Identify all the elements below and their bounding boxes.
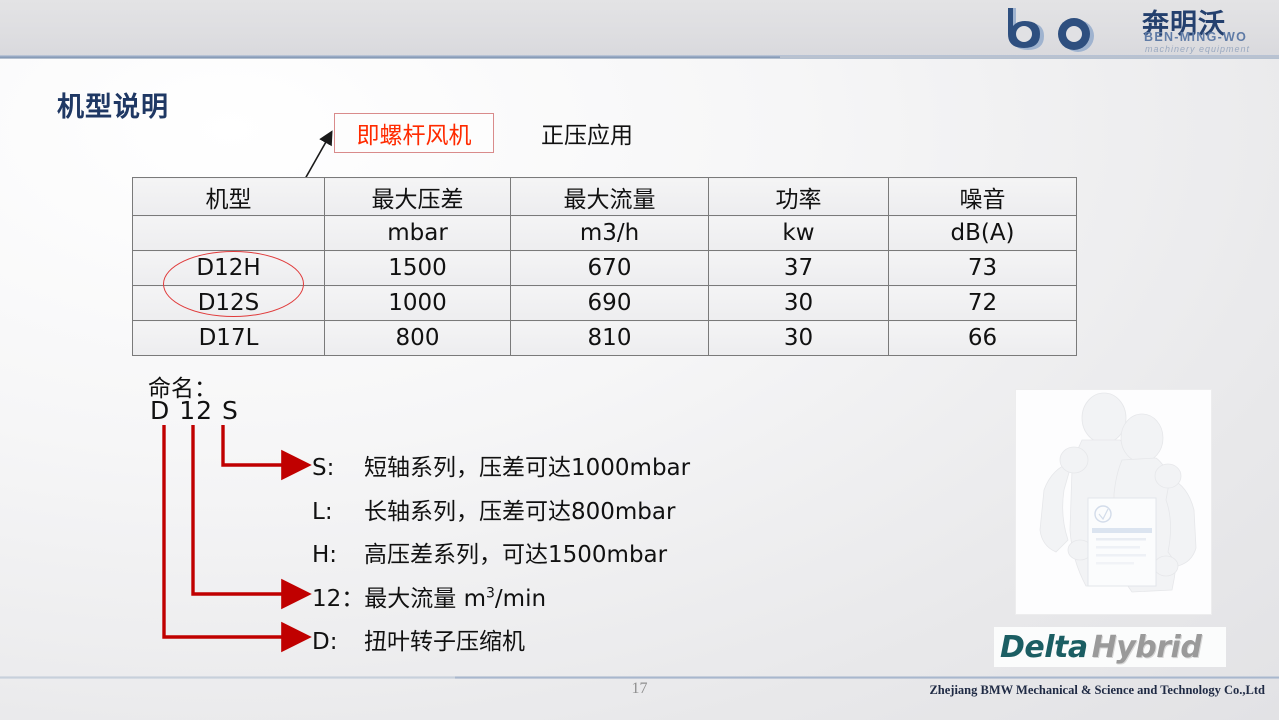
header-cell-pressure: 最大压差 xyxy=(325,178,511,216)
unit-cell-noise: dB(A) xyxy=(889,216,1077,251)
legend-value-l: 长轴系列，压差可达800mbar xyxy=(364,492,675,526)
legend-flow-line: 12：最大流量 m3/min xyxy=(312,579,546,613)
delta-hybrid-logo: Delta Hybrid xyxy=(994,627,1226,667)
legend-value-d: 扭叶转子压缩机 xyxy=(364,629,525,655)
cell-model: D17L xyxy=(133,321,325,356)
legend-key-s: S: xyxy=(312,455,364,481)
cell-power: 37 xyxy=(709,251,889,286)
positive-application-label: 正压应用 xyxy=(541,116,633,150)
list-item: H: 高压差系列，可达1500mbar xyxy=(312,535,1012,579)
header-cell-model: 机型 xyxy=(133,178,325,216)
page-title: 机型说明 xyxy=(57,85,169,124)
legend-value-s: 短轴系列，压差可达1000mbar xyxy=(364,448,690,482)
footer-divider xyxy=(0,676,1279,679)
bo-monogram-icon xyxy=(1002,6,1142,52)
table-unit-row: mbar m3/h kw dB(A) xyxy=(133,216,1077,251)
list-item: L: 长轴系列，压差可达800mbar xyxy=(312,492,1012,536)
footer-company-name: Zhejiang BMW Mechanical & Science and Te… xyxy=(929,683,1265,698)
leader-line-s xyxy=(223,425,305,465)
unit-cell-flow: m3/h xyxy=(511,216,709,251)
robot-illustration xyxy=(1015,389,1212,615)
callout-box: 即螺杆风机 xyxy=(334,113,494,153)
delta-hybrid-primary: Delta xyxy=(1000,630,1088,665)
table-header-row: 机型 最大压差 最大流量 功率 噪音 xyxy=(133,178,1077,216)
cell-pressure: 800 xyxy=(325,321,511,356)
cell-flow: 690 xyxy=(511,286,709,321)
slide-canvas: 奔明沃 BEN-MING-WO machinery equipment 机型说明… xyxy=(0,0,1279,720)
legend-key-h: H: xyxy=(312,542,364,568)
header-cell-flow: 最大流量 xyxy=(511,178,709,216)
cell-flow: 810 xyxy=(511,321,709,356)
leader-line-d xyxy=(164,425,305,637)
cell-noise: 73 xyxy=(889,251,1077,286)
legend-key-d: D: xyxy=(312,629,364,655)
leader-line-12 xyxy=(193,425,305,594)
delta-hybrid-secondary: Hybrid xyxy=(1092,630,1202,665)
cell-pressure: 1500 xyxy=(325,251,511,286)
callout-text: 即螺杆风机 xyxy=(357,116,472,150)
highlight-ellipse xyxy=(163,251,304,317)
list-item: S: 短轴系列，压差可达1000mbar xyxy=(312,448,1012,492)
header-cell-noise: 噪音 xyxy=(889,178,1077,216)
naming-legend-list: S: 短轴系列，压差可达1000mbar L: 长轴系列，压差可达800mbar… xyxy=(312,448,1012,579)
cell-noise: 66 xyxy=(889,321,1077,356)
logo-english-name: BEN-MING-WO xyxy=(1144,30,1247,44)
legend-value-12-prefix: 最大流量 m xyxy=(364,586,486,612)
legend-key-12: 12： xyxy=(312,586,364,612)
company-logo: 奔明沃 BEN-MING-WO machinery equipment xyxy=(1002,2,1267,56)
table-row: D17L 800 810 30 66 xyxy=(133,321,1077,356)
unit-cell-model xyxy=(133,216,325,251)
cell-power: 30 xyxy=(709,286,889,321)
header-cell-power: 功率 xyxy=(709,178,889,216)
cell-flow: 670 xyxy=(511,251,709,286)
cell-pressure: 1000 xyxy=(325,286,511,321)
legend-type-line: D:扭叶转子压缩机 xyxy=(312,622,525,656)
unit-cell-power: kw xyxy=(709,216,889,251)
two-robots-holding-certificate-icon xyxy=(1016,390,1211,614)
legend-value-12-suffix: /min xyxy=(495,586,546,612)
logo-tagline: machinery equipment xyxy=(1145,44,1250,54)
legend-key-l: L: xyxy=(312,499,364,525)
legend-value-12-sup: 3 xyxy=(486,585,495,601)
cell-power: 30 xyxy=(709,321,889,356)
unit-cell-pressure: mbar xyxy=(325,216,511,251)
naming-code: D 12 S xyxy=(150,396,239,425)
cell-noise: 72 xyxy=(889,286,1077,321)
legend-value-h: 高压差系列，可达1500mbar xyxy=(364,535,667,569)
